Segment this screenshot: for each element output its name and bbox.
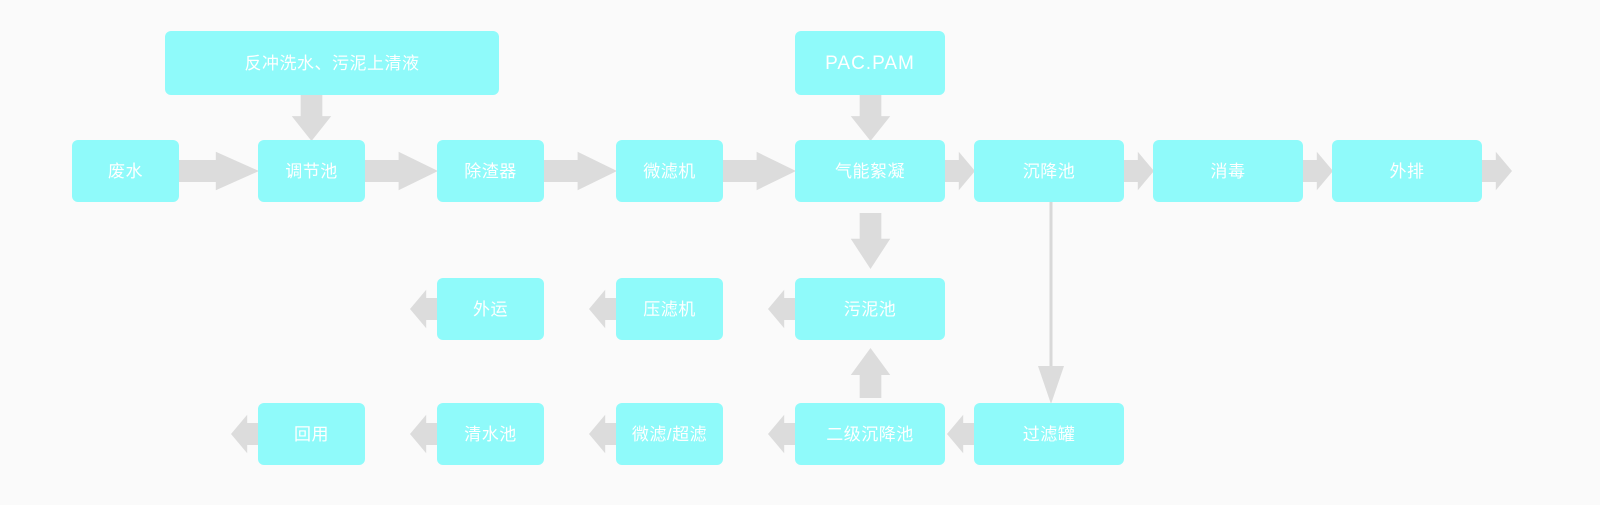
node-reuse[interactable]: 回用 [258, 403, 365, 465]
node-label-wastewater: 废水 [108, 163, 143, 180]
node-label-discharge: 外排 [1390, 163, 1425, 180]
connector-c-settling-filtertank [1036, 202, 1066, 404]
node-disinfection[interactable]: 消毒 [1153, 140, 1303, 202]
node-label-microfilter: 微滤机 [643, 163, 696, 180]
arrow-right-a-slag-microfilter [544, 147, 617, 195]
node-microfilter[interactable]: 微滤机 [616, 140, 723, 202]
arrow-down-a-backwash-regulating [288, 95, 335, 141]
node-secondary[interactable]: 二级沉降池 [795, 403, 945, 465]
node-wastewater[interactable]: 废水 [72, 140, 179, 202]
node-label-pacpam: PAC.PAM [825, 54, 915, 73]
node-label-filter-tank: 过滤罐 [1023, 426, 1076, 443]
node-clearwater[interactable]: 清水池 [437, 403, 544, 465]
arrow-right-a-wastewater-regulating [179, 147, 259, 195]
node-settling[interactable]: 沉降池 [974, 140, 1124, 202]
arrow-right-a-disinfection-discharge [1303, 147, 1333, 195]
node-label-settling: 沉降池 [1023, 163, 1076, 180]
flowchart-canvas: 反冲洗水、污泥上清液PAC.PAM废水调节池除渣器微滤机气能絮凝沉降池消毒外排污… [0, 0, 1600, 505]
node-label-regulating: 调节池 [285, 163, 338, 180]
node-pacpam[interactable]: PAC.PAM [795, 31, 945, 95]
node-flocculation[interactable]: 气能絮凝 [795, 140, 945, 202]
node-label-reuse: 回用 [294, 426, 329, 443]
node-backwash[interactable]: 反冲洗水、污泥上清液 [165, 31, 499, 95]
node-filter-tank[interactable]: 过滤罐 [974, 403, 1124, 465]
node-label-slag-remover: 除渣器 [464, 163, 517, 180]
node-label-flocculation: 气能絮凝 [835, 163, 905, 180]
node-label-transport-out: 外运 [473, 301, 508, 318]
arrow-left-a-secondary-microultra [768, 410, 798, 458]
node-label-sludge-tank: 污泥池 [844, 301, 897, 318]
node-label-backwash: 反冲洗水、污泥上清液 [245, 55, 420, 72]
arrow-up-a-secondary-sludge [847, 348, 894, 398]
node-label-micro-ultra: 微滤/超滤 [632, 426, 707, 443]
node-regulating[interactable]: 调节池 [258, 140, 365, 202]
arrow-down-a-pacpam-flocculation [847, 95, 894, 141]
node-label-secondary: 二级沉降池 [826, 426, 914, 443]
arrow-left-a-sludge-filterpress [768, 285, 798, 333]
arrow-right-a-regulating-slag [365, 147, 438, 195]
node-sludge-tank[interactable]: 污泥池 [795, 278, 945, 340]
arrow-left-a-reuse-out [231, 410, 261, 458]
arrow-left-a-clearwater-reuse [410, 410, 440, 458]
node-filter-press[interactable]: 压滤机 [616, 278, 723, 340]
node-label-filter-press: 压滤机 [643, 301, 696, 318]
arrow-right-a-discharge-out [1482, 147, 1512, 195]
arrow-right-a-flocculation-settling [945, 147, 975, 195]
arrow-right-a-microfilter-flocculation [723, 147, 796, 195]
node-discharge[interactable]: 外排 [1332, 140, 1482, 202]
node-label-disinfection: 消毒 [1211, 163, 1246, 180]
node-slag-remover[interactable]: 除渣器 [437, 140, 544, 202]
arrow-down-a-flocculation-sludge [847, 213, 894, 269]
arrow-left-a-filterpress-transport [589, 285, 619, 333]
arrow-left-a-filtertank-secondary [947, 410, 977, 458]
arrow-left-a-transport-out [410, 285, 440, 333]
arrow-left-a-microultra-clearwater [589, 410, 619, 458]
node-label-clearwater: 清水池 [464, 426, 517, 443]
node-micro-ultra[interactable]: 微滤/超滤 [616, 403, 723, 465]
node-transport-out[interactable]: 外运 [437, 278, 544, 340]
arrow-right-a-settling-disinfection [1124, 147, 1154, 195]
